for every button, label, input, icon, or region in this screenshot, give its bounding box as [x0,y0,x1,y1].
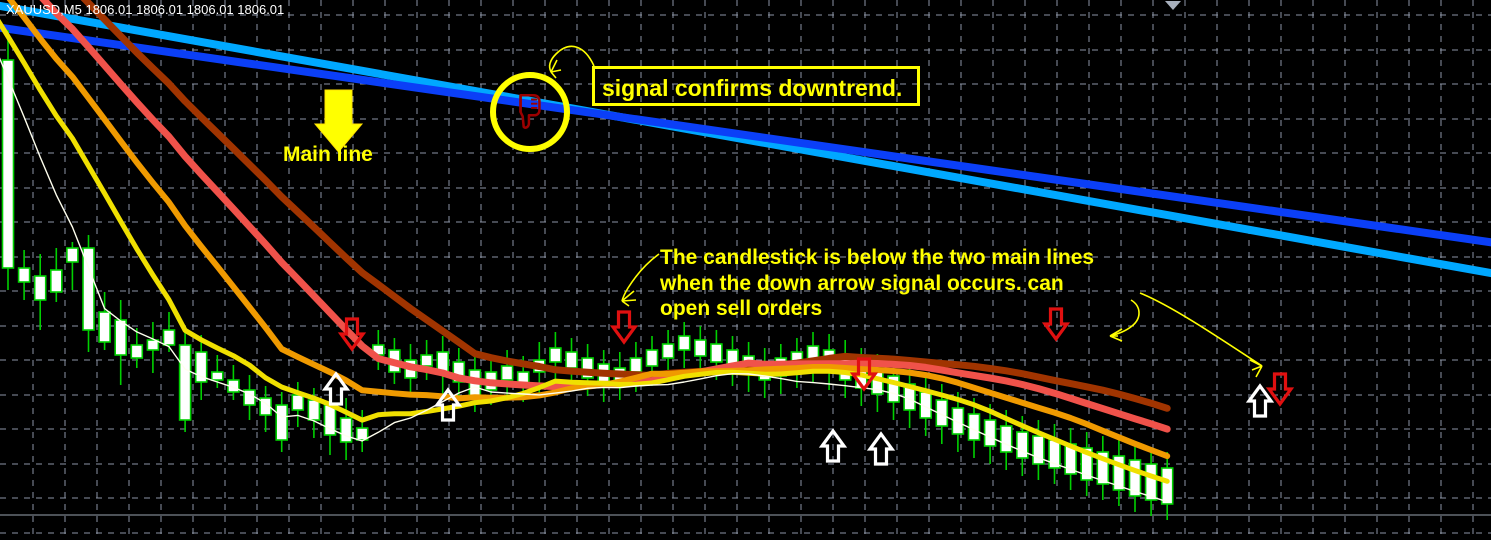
candle-body [115,320,126,355]
candle-body [292,395,303,410]
candle-body [663,344,674,358]
candle-body [180,345,191,420]
candle-body [1146,464,1157,500]
candle-body [276,405,287,440]
candle-body [550,348,561,362]
candle-body [566,352,577,368]
candle-body [212,372,223,380]
candle-note-text: The candlestick is below the two main li… [660,245,1094,322]
main-line-label: Main line [283,142,373,168]
candle-body [679,336,690,350]
candle-body [35,276,46,300]
chart-header-label: XAUUSD,M5 1806.01 1806.01 1806.01 1806.0… [6,2,284,17]
candle-body [341,418,352,442]
candle-body [19,268,30,282]
candle-body [1001,426,1012,452]
candle-body [51,270,62,292]
candle-body [647,350,658,366]
candle-body [3,60,14,268]
candle-body [711,344,722,362]
candle-body [695,340,706,356]
candle-body [83,248,94,330]
candle-body [630,358,641,372]
candle-body [99,312,110,342]
trading-chart-window[interactable]: XAUUSD,M5 1806.01 1806.01 1806.01 1806.0… [0,0,1491,540]
signal-confirm-text: signal confirms downtrend. [602,74,902,102]
candle-body [1017,432,1028,458]
candle-body [421,355,432,366]
candle-body [502,366,513,380]
candle-body [131,345,142,358]
candle-body [969,414,980,440]
candle-body [985,420,996,446]
candle-body [308,400,319,420]
candle-body [1162,468,1173,504]
candle-body [164,330,175,345]
candle-body [67,248,78,262]
